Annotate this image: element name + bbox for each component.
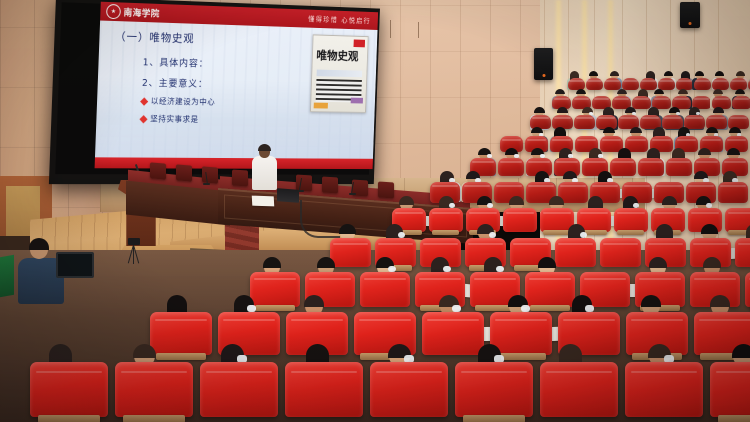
auditorium-seat [622, 78, 639, 90]
desk-microphone-base [349, 193, 356, 195]
auditorium-seat [525, 272, 575, 307]
auditorium-seat [735, 238, 750, 267]
seat-desk-ledge [718, 415, 750, 422]
audience-member-hair [695, 71, 704, 76]
auditorium-seat [150, 312, 212, 355]
auditorium-seat [632, 96, 651, 109]
audience-member-hair [549, 196, 564, 205]
auditorium-seat [30, 362, 108, 417]
auditorium-seat [498, 158, 524, 176]
auditorium-seat [666, 158, 692, 176]
seat-desk-ledge [255, 305, 295, 311]
audience-member-hair [664, 71, 673, 76]
wall-speaker-left [534, 48, 553, 80]
auditorium-seat [604, 78, 621, 90]
audience-member-hair [649, 257, 667, 268]
audience-member-hair [735, 89, 745, 94]
auditorium-seat [574, 115, 595, 129]
slide-bullet-2-text: 坚持实事求是 [150, 113, 199, 124]
audience-member-hair [630, 127, 642, 133]
face-mask [585, 305, 594, 312]
auditorium-seat [422, 312, 484, 355]
green-banner-edge [0, 255, 14, 297]
papers-on-table [252, 196, 274, 207]
seal-emblem-icon: ★ [106, 4, 121, 19]
auditorium-seat [712, 78, 729, 90]
audience-member-hair [339, 224, 356, 234]
slide-line-2: 2、主要意义： [142, 75, 216, 90]
book-cover-image: 唯物史观 [310, 34, 369, 112]
audience-member-hair [538, 257, 556, 268]
auditorium-seat [250, 272, 300, 307]
auditorium-seat [745, 272, 750, 307]
face-mask [521, 305, 530, 312]
audience-member-hair [603, 127, 615, 133]
book-title: 唯物史观 [316, 47, 359, 64]
auditorium-seat [600, 238, 641, 267]
audience-member-hair [589, 71, 598, 76]
diamond-bullet-icon [139, 115, 147, 123]
slide-line-1: 1、具体内容： [143, 54, 217, 70]
slide-bullet-2: 坚持实事求是 [140, 113, 214, 125]
audience-member-hair [713, 89, 723, 94]
slide-bullet-1-text: 以经济建设为中心 [151, 96, 216, 108]
floor-cable [300, 200, 340, 238]
seat-desk-ledge [123, 415, 185, 422]
seat-desk-ledge [617, 230, 644, 235]
stage-chair [150, 162, 166, 179]
audience-member-hair [534, 107, 545, 113]
stage-chair [176, 164, 192, 181]
projection-screen: ★ 南海学院 懂得珍惜 心悦启行 （一）唯物史观 1、具体内容： 2、主要意义：… [49, 0, 380, 184]
audience-member-hair [617, 89, 627, 94]
diamond-bullet-icon [140, 97, 148, 105]
stage-chair [378, 181, 394, 198]
audience-member-hair [555, 89, 565, 94]
auditorium-seat [586, 78, 603, 90]
audience-member-hair [703, 257, 721, 268]
auditorium-seat [455, 362, 533, 417]
auditorium-seat [360, 272, 410, 307]
stage-chair [202, 166, 218, 183]
auditorium-seat [625, 362, 703, 417]
wall-speaker-right [680, 2, 700, 28]
auditorium-seat [732, 96, 750, 109]
audience-member-hair [736, 71, 745, 76]
auditorium-seat [540, 362, 618, 417]
audience-member-hair [509, 196, 524, 205]
seat-desk-ledge [463, 415, 525, 422]
audience-member-hair [399, 196, 414, 205]
lecture-hall-photo: ★ 南海学院 懂得珍惜 心悦启行 （一）唯物史观 1、具体内容： 2、主要意义：… [0, 0, 750, 422]
college-name: 南海学院 [123, 6, 160, 20]
slide-bullet-1: 以经济建设为中心 [141, 96, 215, 108]
presenter-hair [258, 144, 271, 151]
stage-chair [322, 176, 338, 193]
book-footer-tag [314, 103, 328, 109]
book-banner [317, 70, 363, 78]
slide-title: （一）唯物史观 [115, 28, 195, 46]
desk-microphone-base [203, 183, 210, 185]
auditorium-seat [503, 208, 537, 232]
auditorium-seat [429, 208, 463, 232]
auditorium-seat [614, 208, 648, 232]
auditorium-seat [710, 362, 750, 417]
audience-member-hair [727, 148, 740, 155]
slide-body: 1、具体内容： 2、主要意义： 以经济建设为中心 坚持实事求是 [140, 54, 216, 125]
face-mask [247, 305, 256, 312]
audience-member-hair [317, 257, 335, 268]
audience-member-hair [701, 224, 718, 234]
stage-chair [232, 169, 248, 186]
seat-desk-ledge [432, 230, 459, 235]
book-tag [354, 39, 366, 47]
auditorium-seat [330, 238, 371, 267]
auditorium-seat [555, 238, 596, 267]
face-mask [452, 305, 461, 312]
audience-member-hair [698, 148, 711, 155]
auditorium-seat [370, 362, 448, 417]
audience-member-hair [715, 71, 724, 76]
seat-desk-ledge [543, 230, 570, 235]
auditorium-seat [718, 182, 748, 203]
auditorium-seat [568, 78, 585, 90]
book-footer-tag-2 [351, 98, 363, 104]
control-monitor [56, 252, 94, 278]
audience-member-hair [557, 107, 568, 113]
auditorium-seat [638, 158, 664, 176]
auditorium-room: ★ 南海学院 懂得珍惜 心悦启行 （一）唯物史观 1、具体内容： 2、主要意义：… [0, 0, 750, 422]
auditorium-seat [658, 78, 675, 90]
slide-motto: 懂得珍惜 心悦启行 [308, 14, 378, 26]
auditorium-seat [662, 115, 683, 129]
seat-desk-ledge [38, 415, 100, 422]
auditorium-seat [610, 158, 636, 176]
audience-member-hair [263, 257, 281, 268]
audience-member-hair [610, 71, 619, 76]
audience-member-hair [713, 107, 724, 113]
seat-desk-ledge [156, 353, 206, 360]
desk-microphone-base [297, 190, 304, 192]
audience-member-hair [662, 196, 677, 205]
camera-tripod [126, 238, 142, 264]
auditorium-seat [694, 78, 711, 90]
laptop [277, 188, 299, 203]
auditorium-seat [285, 362, 363, 417]
audience-member-hair [678, 89, 688, 94]
auditorium-seat [676, 78, 693, 90]
college-logo: ★ 南海学院 [100, 4, 160, 21]
seat-desk-ledge [530, 305, 570, 311]
audience-member-hair [654, 89, 664, 94]
auditorium-seat [115, 362, 193, 417]
slide-content: ★ 南海学院 懂得珍惜 心悦启行 （一）唯物史观 1、具体内容： 2、主要意义：… [95, 2, 379, 169]
presenter-body [252, 156, 277, 190]
audience-member-hair [576, 89, 586, 94]
auditorium-seat [200, 362, 278, 417]
